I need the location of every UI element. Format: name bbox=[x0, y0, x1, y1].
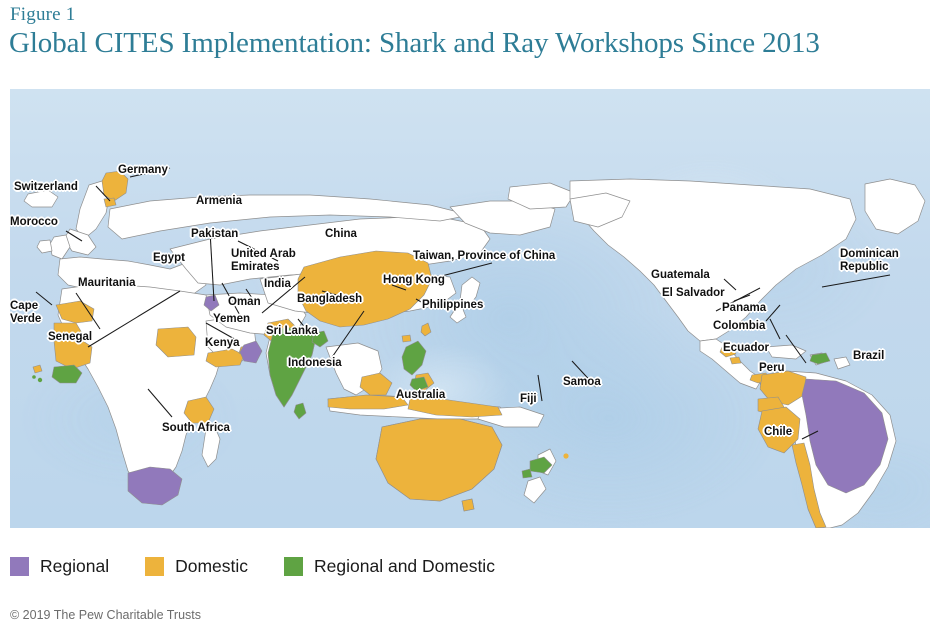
copyright-credit: © 2019 The Pew Charitable Trusts bbox=[10, 608, 201, 622]
figure-label: Figure 1 bbox=[10, 4, 75, 26]
page-title: Global CITES Implementation: Shark and R… bbox=[9, 26, 820, 60]
legend-item-domestic: Domestic bbox=[145, 556, 248, 577]
map-legend: RegionalDomesticRegional and Domestic bbox=[10, 556, 531, 577]
legend-label: Domestic bbox=[175, 556, 248, 577]
world-map: GermanySwitzerlandArmeniaMoroccoPakistan… bbox=[10, 89, 930, 528]
legend-swatch-regional bbox=[10, 557, 29, 576]
legend-swatch-domestic bbox=[145, 557, 164, 576]
legend-swatch-regional-and-domestic bbox=[284, 557, 303, 576]
world-map-svg bbox=[10, 89, 930, 528]
legend-label: Regional bbox=[40, 556, 109, 577]
legend-label: Regional and Domestic bbox=[314, 556, 495, 577]
legend-item-regional: Regional bbox=[10, 556, 109, 577]
legend-item-regional-and-domestic: Regional and Domestic bbox=[284, 556, 495, 577]
